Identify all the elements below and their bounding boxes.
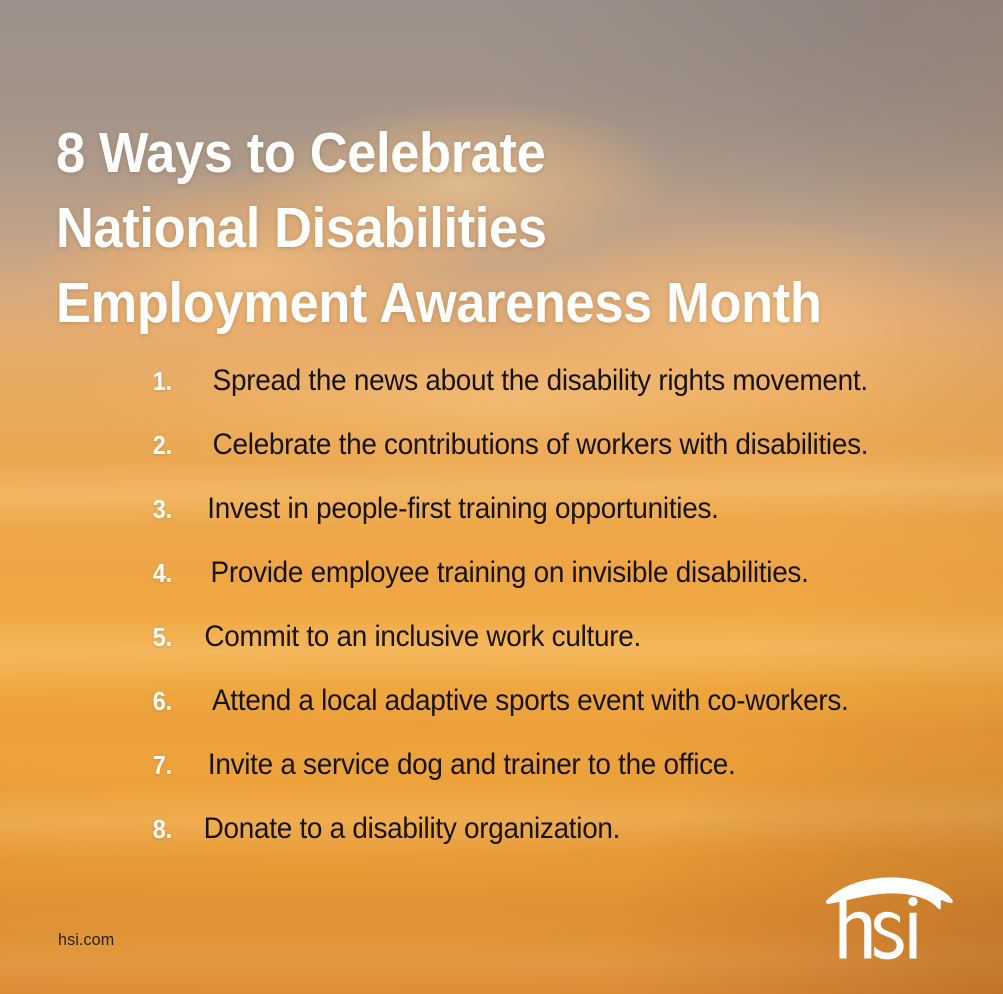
tips-list: 1. Spread the news about the disability … (92, 364, 1003, 876)
list-item-number: 7. (134, 749, 172, 781)
list-item-number: 1. (134, 365, 172, 397)
poster-content: 8 Ways to Celebrate National Disabilitie… (0, 0, 1003, 994)
list-item-text: Donate to a disability organization. (204, 812, 620, 846)
list-item-number: 3. (134, 493, 172, 525)
page-title: 8 Ways to Celebrate National Disabilitie… (56, 116, 884, 341)
list-item: 3. Invest in people-first training oppor… (132, 492, 1003, 556)
page-title-line-3: Employment Awareness Month (56, 266, 884, 341)
list-item-number: 4. (134, 557, 172, 589)
page-title-line-2: National Disabilities (56, 191, 884, 266)
list-item-number: 8. (134, 813, 172, 845)
list-item-text: Invest in people-first training opportun… (207, 492, 718, 526)
list-item: 2. Celebrate the contributions of worker… (132, 428, 1003, 492)
list-item-text: Commit to an inclusive work culture. (204, 620, 641, 654)
list-item: 5. Commit to an inclusive work culture. (132, 620, 1003, 684)
list-item-text: Attend a local adaptive sports event wit… (212, 684, 849, 718)
list-item: 8. Donate to a disability organization. (132, 812, 1003, 876)
footer-website-url[interactable]: hsi.com (58, 930, 114, 950)
list-item-text: Invite a service dog and trainer to the … (208, 748, 736, 782)
hsi-logo (823, 874, 955, 966)
list-item: 6. Attend a local adaptive sports event … (132, 684, 1003, 748)
list-item: 4. Provide employee training on invisibl… (132, 556, 1003, 620)
poster-canvas: 8 Ways to Celebrate National Disabilitie… (0, 0, 1003, 994)
list-item-number: 6. (134, 685, 172, 717)
hsi-wordmark (840, 897, 918, 960)
list-item-text: Spread the news about the disability rig… (213, 364, 868, 398)
list-item-text: Provide employee training on invisible d… (211, 556, 809, 590)
list-item-number: 2. (134, 429, 172, 461)
page-title-line-1: 8 Ways to Celebrate (56, 116, 884, 191)
list-item-text: Celebrate the contributions of workers w… (213, 428, 869, 462)
list-item-number: 5. (134, 621, 172, 653)
list-item: 7. Invite a service dog and trainer to t… (132, 748, 1003, 812)
list-item: 1. Spread the news about the disability … (132, 364, 1003, 428)
